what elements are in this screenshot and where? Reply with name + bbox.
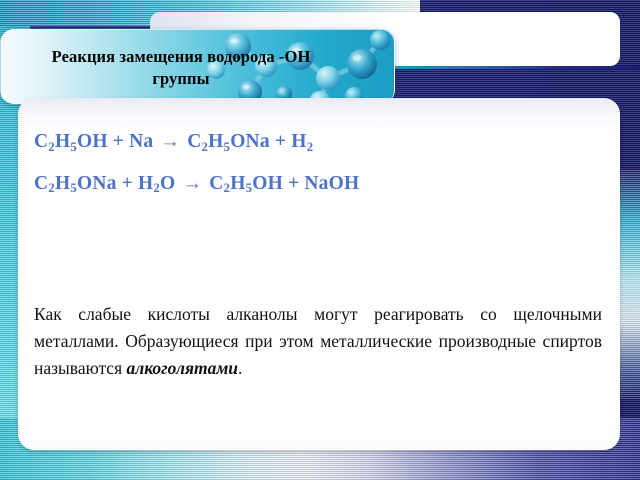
body-paragraph-term: алкоголятами (127, 358, 239, 378)
chemical-equation-2: C2H5ONa + H2O → C2H5OH + NaOH (34, 174, 594, 194)
slide-title-line-2: группы (152, 68, 209, 89)
slide-content-panel: C2H5OH + Na → C2H5ONa + H2 C2H5ONa + H2O… (18, 98, 620, 450)
slide-title-bar: Реакция замещения водорода -ОН группы (0, 29, 395, 104)
title-divider-line (372, 66, 640, 69)
body-paragraph-main: Как слабые кислоты алканолы могут реагир… (34, 304, 602, 379)
slide-title: Реакция замещения водорода -ОН группы (1, 30, 361, 104)
body-paragraph-end: . (238, 358, 242, 378)
equation-list: C2H5OH + Na → C2H5ONa + H2 C2H5ONa + H2O… (34, 132, 594, 193)
presentation-slide: Реакция замещения водорода -ОН группы C2… (0, 0, 640, 480)
body-paragraph: Как слабые кислоты алканолы могут реагир… (34, 301, 602, 383)
slide-title-line-1: Реакция замещения водорода -ОН (52, 46, 311, 67)
chemical-equation-1: C2H5OH + Na → C2H5ONa + H2 (34, 132, 594, 152)
